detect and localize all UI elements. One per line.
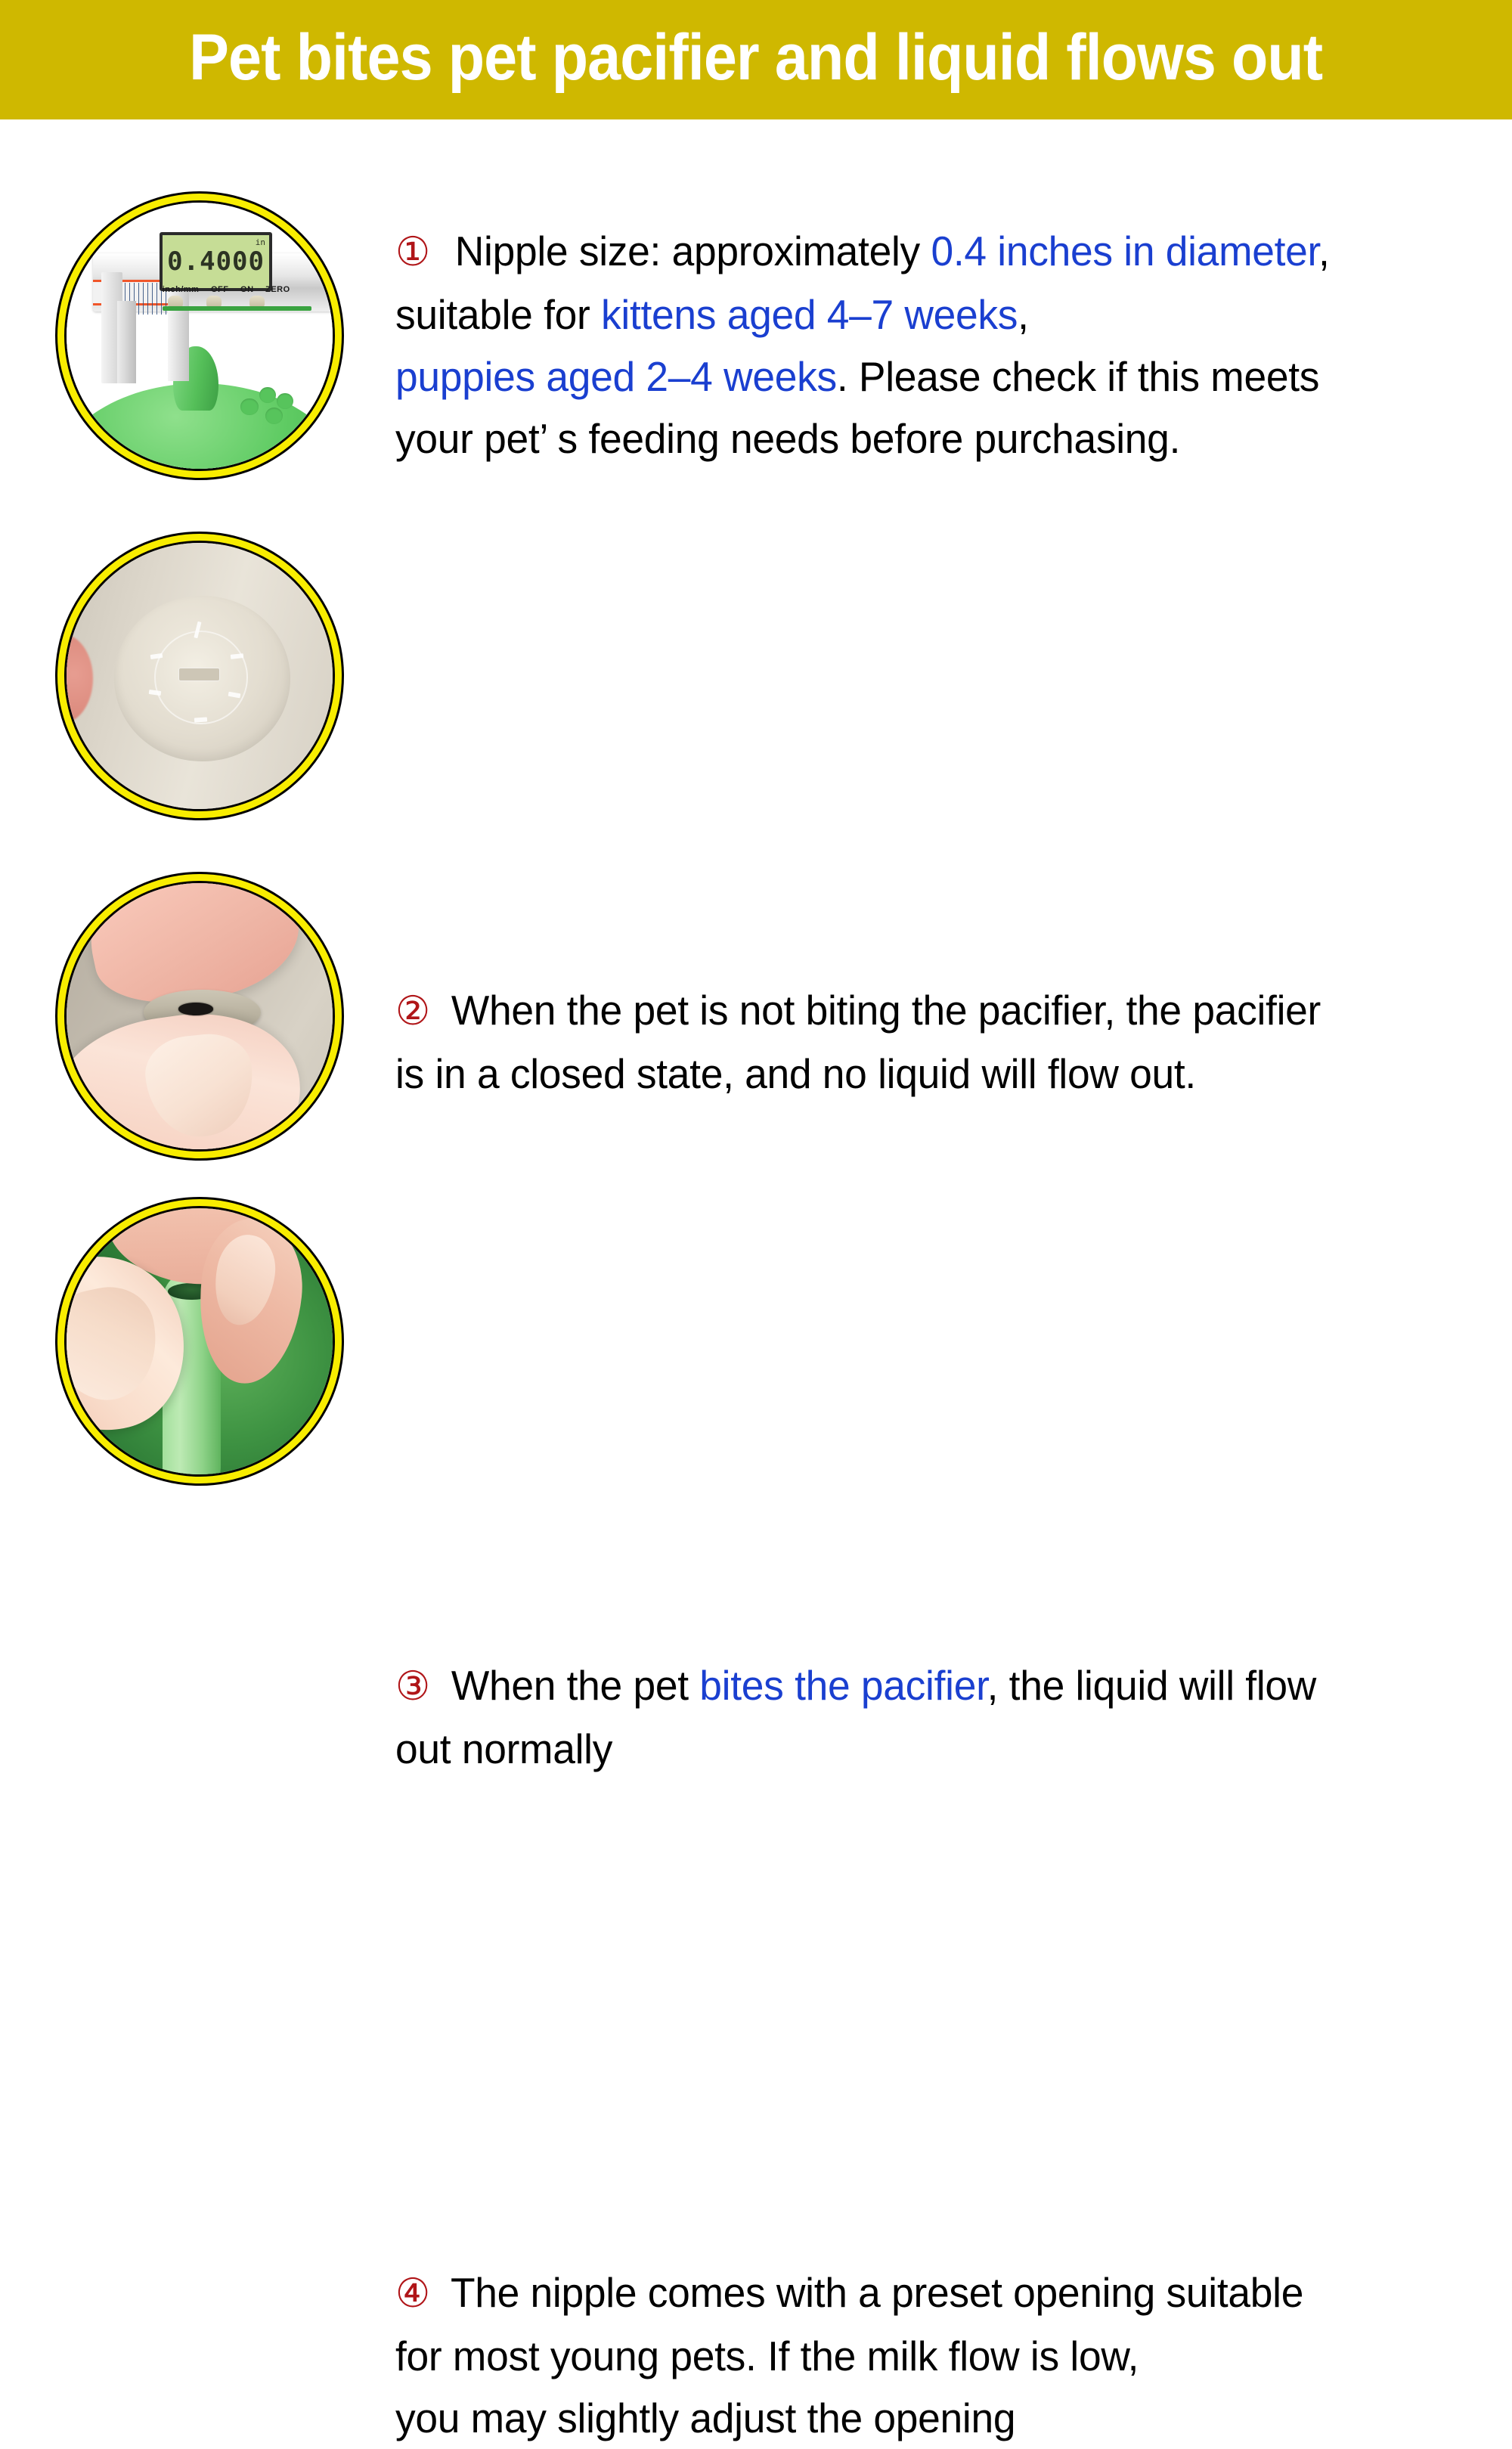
caliper-label-on: ON: [240, 285, 254, 294]
green-pacifier-texture-dots: [240, 383, 298, 426]
feature-1-line-3-b: . Please check if this meets: [837, 353, 1319, 400]
feature-1-line-4: your pet’ s feeding needs before purchas…: [395, 408, 1470, 470]
feature-1-highlight-kittens: kittens aged 4–7 weeks: [601, 291, 1018, 338]
nipple-open-hole: [178, 1003, 213, 1015]
feature-3-line-1-b: , the liquid will flow: [987, 1662, 1316, 1709]
caliper-lcd-unit: in: [256, 237, 265, 247]
photo-ring-yellow-3: [57, 874, 342, 1158]
caliper-label-off: OFF: [211, 285, 229, 294]
caliper-green-stripe: [163, 306, 311, 311]
header-banner: Pet bites pet pacifier and liquid flows …: [0, 0, 1512, 119]
caliper-measuring-nipple-photo: 0.4000 in inch/mm OFF ON ZERO: [67, 203, 333, 469]
closed-nipple-tip-photo: [67, 543, 333, 809]
photo-ring-inner-4: [64, 1206, 335, 1477]
marker-1: ①: [395, 230, 430, 274]
feature-4-line-1-text: The nipple comes with a preset opening s…: [451, 2269, 1303, 2316]
page-title: Pet bites pet pacifier and liquid flows …: [189, 25, 1322, 95]
feature-1-line-1-a: Nipple size: approximately: [455, 228, 931, 274]
nipple-closed-slit: [178, 668, 220, 681]
photo-ring-yellow-1: 0.4000 in inch/mm OFF ON ZERO: [57, 194, 342, 478]
photo-ring-yellow-4: [57, 1199, 342, 1483]
feature-1-highlight-puppies: puppies aged 2–4 weeks: [395, 353, 837, 400]
feature-2-line-2: is in a closed state, and no liquid will…: [395, 1043, 1470, 1105]
marker-3: ③: [395, 1664, 430, 1709]
feature-3-line-1-a: When the pet: [451, 1662, 699, 1709]
feature-1-line-2-b: ,: [1018, 291, 1029, 338]
photo-frame-1: 0.4000 in inch/mm OFF ON ZERO: [55, 191, 344, 480]
feature-4-line-3: you may slightly adjust the opening: [395, 2387, 1470, 2449]
feature-1-line-2-a: suitable for: [395, 291, 601, 338]
caliper-button-labels: inch/mm OFF ON ZERO: [163, 285, 290, 294]
feature-2-line-1: ② When the pet is not biting the pacifie…: [395, 979, 1470, 1043]
caliper-label-inchmm: inch/mm: [163, 285, 200, 294]
feature-text-3: ③ When the pet bites the pacifier, the l…: [395, 1654, 1470, 1780]
feature-1-highlight-diameter: 0.4 inches in diameter: [931, 228, 1318, 274]
feature-2-line-1-text: When the pet is not biting the pacifier,…: [451, 987, 1321, 1034]
photo-ring-inner-2: [64, 541, 335, 811]
feature-1-line-3: puppies aged 2–4 weeks. Please check if …: [395, 346, 1470, 408]
feature-4-line-1: ④ The nipple comes with a preset opening…: [395, 2261, 1470, 2325]
marker-4: ④: [395, 2271, 430, 2316]
feature-3-highlight-bites: bites the pacifier: [699, 1662, 987, 1709]
feature-3-line-1: ③ When the pet bites the pacifier, the l…: [395, 1654, 1470, 1718]
photo-frame-3: [55, 872, 344, 1161]
photo-ring-yellow-2: [57, 534, 342, 818]
feature-4-line-2: for most young pets. If the milk flow is…: [395, 2325, 1470, 2387]
feature-3-line-2: out normally: [395, 1718, 1470, 1780]
green-nipple-opening-photo: [67, 1208, 333, 1474]
fingers-opening-nipple-photo: [67, 883, 333, 1149]
feature-1-line-2: suitable for kittens aged 4–7 weeks,: [395, 284, 1470, 346]
photo-frame-4: [55, 1197, 344, 1486]
photo-frame-2: [55, 532, 344, 820]
feature-text-2: ② When the pet is not biting the pacifie…: [395, 979, 1470, 1105]
caliper-label-zero: ZERO: [265, 285, 290, 294]
photo-ring-inner-1: 0.4000 in inch/mm OFF ON ZERO: [64, 200, 335, 471]
caliper-lcd-screen: 0.4000 in: [160, 232, 272, 291]
marker-2: ②: [395, 989, 430, 1034]
caliper-jaw-left-inner: [117, 301, 136, 383]
photo-ring-inner-3: [64, 881, 335, 1152]
feature-1-line-1-b: ,: [1318, 228, 1330, 274]
content-area: 0.4000 in inch/mm OFF ON ZERO: [0, 119, 1512, 1512]
caliper-lcd-value: 0.4000: [167, 246, 265, 277]
feature-1-line-1: ①Nipple size: approximately 0.4 inches i…: [395, 220, 1470, 284]
feature-text-4: ④ The nipple comes with a preset opening…: [395, 2261, 1470, 2449]
feature-text-1: ①Nipple size: approximately 0.4 inches i…: [395, 220, 1470, 470]
